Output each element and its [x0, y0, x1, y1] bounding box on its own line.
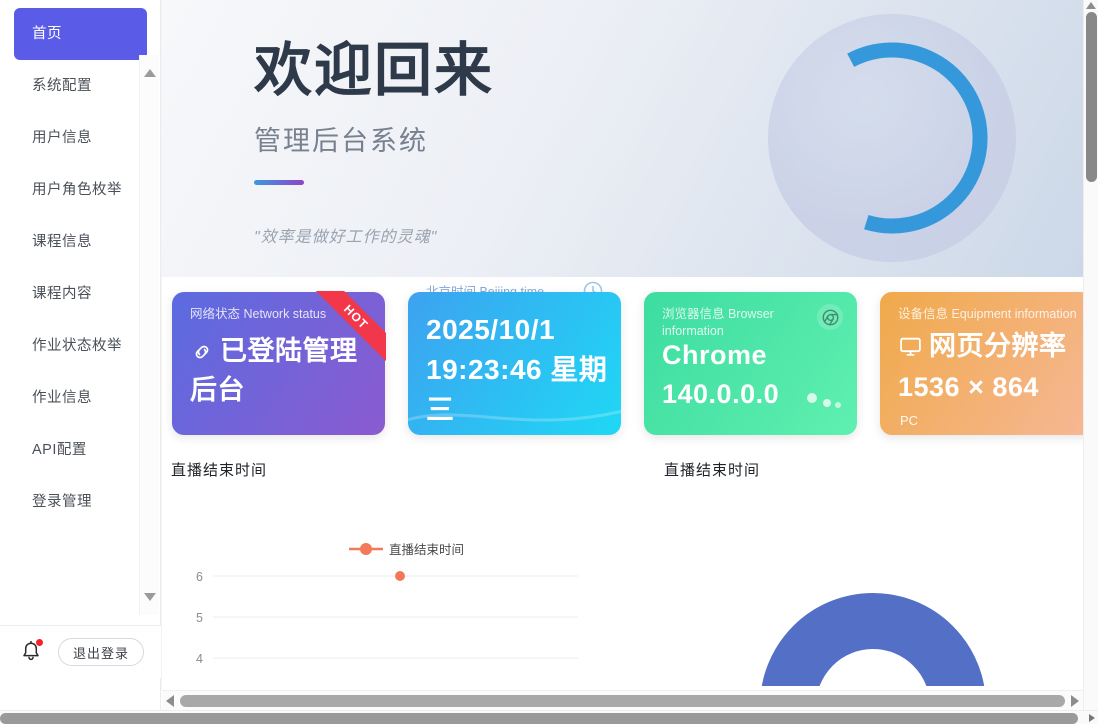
sidebar-item-login-management[interactable]: 登录管理: [14, 476, 147, 528]
sidebar-item-home[interactable]: 首页: [14, 8, 147, 60]
card-label: 浏览器信息 Browser information: [662, 306, 815, 340]
link-icon: [190, 340, 214, 364]
pie-chart-panel: 直播结束时间: [642, 459, 1072, 689]
info-card-row: 网络状态 Network status 已登陆管理后台 HOT 北京时间 Bei…: [162, 277, 1083, 435]
scroll-up-arrow-icon[interactable]: [144, 69, 156, 77]
sidebar-item-label: 用户信息: [32, 131, 92, 146]
sidebar-menu: 首页 系统配置 用户信息 用户角色枚举 课程信息 课程内容 作业状态枚举 作业信…: [0, 0, 161, 625]
sidebar-item-homework-status-enum[interactable]: 作业状态枚举: [14, 320, 147, 372]
scroll-down-arrow-icon[interactable]: [144, 593, 156, 601]
sidebar-item-label: 课程信息: [32, 235, 92, 250]
sidebar: 首页 系统配置 用户信息 用户角色枚举 课程信息 课程内容 作业状态枚举 作业信…: [0, 0, 161, 724]
beijing-time-card[interactable]: 北京时间 Beijing time 2025/10/1 19:23:46 星期三: [408, 292, 621, 435]
sidebar-item-system-config[interactable]: 系统配置: [14, 60, 147, 112]
chart-title: 直播结束时间: [664, 459, 1072, 480]
sidebar-footer: 退出登录: [0, 625, 161, 678]
sidebar-item-label: 首页: [32, 27, 62, 42]
chart-legend-label: 直播结束时间: [389, 543, 464, 557]
donut-slice: [788, 621, 958, 686]
sidebar-item-label: 登录管理: [32, 495, 92, 510]
loading-ring-icon: [768, 14, 1016, 262]
main-content: 欢迎回来 管理后台系统 "效率是做好工作的灵魂" 网络状态 Network st…: [162, 0, 1083, 690]
card-label: 设备信息 Equipment information: [898, 306, 1079, 323]
notification-bell-button[interactable]: [20, 640, 42, 664]
welcome-banner: 欢迎回来 管理后台系统 "效率是做好工作的灵魂": [162, 0, 1083, 277]
line-chart-svg: 直播结束时间 6 5 4 3: [171, 486, 641, 686]
card-value: 网页分辨率 1536 × 864: [898, 326, 1083, 407]
sidebar-item-user-role-enum[interactable]: 用户角色枚举: [14, 164, 147, 216]
device-type-label: PC: [900, 413, 918, 428]
sidebar-item-api-config[interactable]: API配置: [14, 424, 147, 476]
sidebar-item-label: 作业信息: [32, 391, 92, 406]
y-tick-label: 4: [196, 652, 203, 666]
scroll-right-arrow-icon[interactable]: [1071, 695, 1079, 707]
admin-dashboard-page: 首页 系统配置 用户信息 用户角色枚举 课程信息 课程内容 作业状态枚举 作业信…: [0, 0, 1098, 724]
page-horizontal-scrollbar[interactable]: [0, 710, 1098, 724]
line-chart[interactable]: 直播结束时间 6 5 4 3: [171, 486, 642, 690]
page-scrollbar-thumb[interactable]: [1086, 12, 1097, 182]
resolution-title: 网页分辨率: [929, 331, 1067, 361]
sidebar-item-homework-info[interactable]: 作业信息: [14, 372, 147, 424]
sidebar-item-course-content[interactable]: 课程内容: [14, 268, 147, 320]
content-horizontal-scrollbar[interactable]: [162, 690, 1083, 710]
title-underline: [254, 180, 304, 185]
logout-button[interactable]: 退出登录: [58, 638, 144, 666]
page-scroll-up-arrow-icon[interactable]: [1086, 2, 1096, 9]
device-info-card[interactable]: 设备信息 Equipment information 网页分辨率 1536 × …: [880, 292, 1083, 435]
y-tick-label: 6: [196, 570, 203, 584]
card-value: 2025/10/1 19:23:46 星期三: [426, 310, 611, 429]
donut-chart-svg: [664, 486, 1083, 686]
page-subtitle: 管理后台系统: [254, 119, 494, 158]
page-vertical-scrollbar[interactable]: [1083, 0, 1098, 724]
y-tick-label: 5: [196, 611, 203, 625]
browser-info-card[interactable]: 浏览器信息 Browser information Chrome 140.0.0…: [644, 292, 857, 435]
resolution-value: 1536 × 864: [898, 367, 1083, 408]
page-scroll-right-arrow-icon[interactable]: [1089, 714, 1095, 722]
banner-text-block: 欢迎回来 管理后台系统 "效率是做好工作的灵魂": [254, 38, 494, 247]
decor-dots-icon: [805, 393, 845, 409]
sidebar-item-label: 用户角色枚举: [32, 183, 122, 198]
sidebar-item-label: API配置: [32, 443, 87, 458]
card-label: 网络状态 Network status: [190, 306, 343, 323]
monitor-icon: [898, 334, 923, 359]
sidebar-item-label: 作业状态枚举: [32, 339, 122, 354]
card-value-text: 已登陆管理后台: [190, 336, 358, 405]
chrome-icon: [817, 304, 843, 330]
data-point: [395, 571, 405, 581]
page-title: 欢迎回来: [254, 38, 494, 105]
sidebar-vertical-scrollbar[interactable]: [139, 55, 159, 615]
sidebar-item-course-info[interactable]: 课程信息: [14, 216, 147, 268]
sidebar-item-label: 课程内容: [32, 287, 92, 302]
page-hscrollbar-thumb[interactable]: [0, 713, 1078, 724]
card-value: 已登陆管理后台: [190, 332, 375, 410]
sidebar-item-user-info[interactable]: 用户信息: [14, 112, 147, 164]
scrollbar-thumb[interactable]: [180, 695, 1065, 707]
chart-title: 直播结束时间: [171, 459, 642, 480]
line-chart-panel: 直播结束时间 直播结束时间 6 5: [162, 459, 642, 689]
banner-quote: "效率是做好工作的灵魂": [254, 223, 494, 247]
chart-row: 直播结束时间 直播结束时间 6 5: [162, 435, 1083, 689]
notification-unread-dot: [36, 639, 43, 646]
network-status-card[interactable]: 网络状态 Network status 已登陆管理后台 HOT: [172, 292, 385, 435]
donut-chart[interactable]: [664, 486, 1072, 690]
scroll-left-arrow-icon[interactable]: [166, 695, 174, 707]
sidebar-item-label: 系统配置: [32, 79, 92, 94]
